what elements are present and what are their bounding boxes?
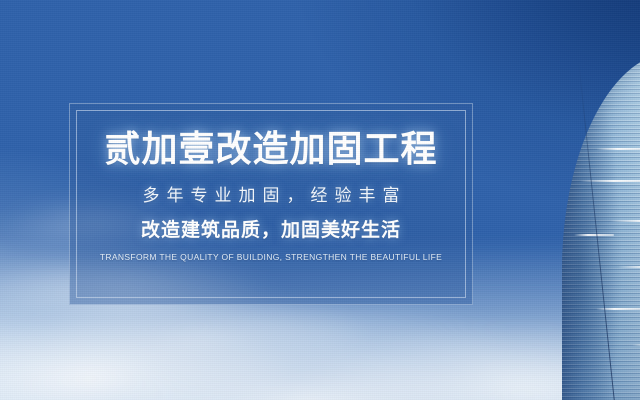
building-shading: [562, 52, 640, 400]
building-highlight-stripe: [610, 220, 640, 222]
banner-image: 贰加壹改造加固工程 多年专业加固，经验丰富 改造建筑品质，加固美好生活 TRAN…: [0, 0, 640, 400]
banner-slogan-english: TRANSFORM THE QUALITY OF BUILDING, STREN…: [100, 253, 442, 262]
banner-slogan: 改造建筑品质，加固美好生活: [141, 221, 401, 240]
building-body: [562, 52, 640, 400]
building-highlight-stripe: [580, 180, 640, 182]
hero-text-panel: 贰加壹改造加固工程 多年专业加固，经验丰富 改造建筑品质，加固美好生活 TRAN…: [69, 103, 473, 305]
skyscraper-building: [540, 52, 640, 400]
building-highlight-stripe: [596, 308, 640, 310]
building-highlight-stripe: [574, 234, 614, 236]
building-highlight-stripe: [618, 266, 640, 268]
banner-tagline: 多年专业加固，经验丰富: [136, 187, 407, 204]
building-highlight-stripe: [596, 148, 640, 150]
panel-content: 贰加壹改造加固工程 多年专业加固，经验丰富 改造建筑品质，加固美好生活 TRAN…: [70, 104, 472, 304]
banner-title: 贰加壹改造加固工程: [104, 131, 437, 167]
building-highlight-stripe: [632, 344, 640, 346]
